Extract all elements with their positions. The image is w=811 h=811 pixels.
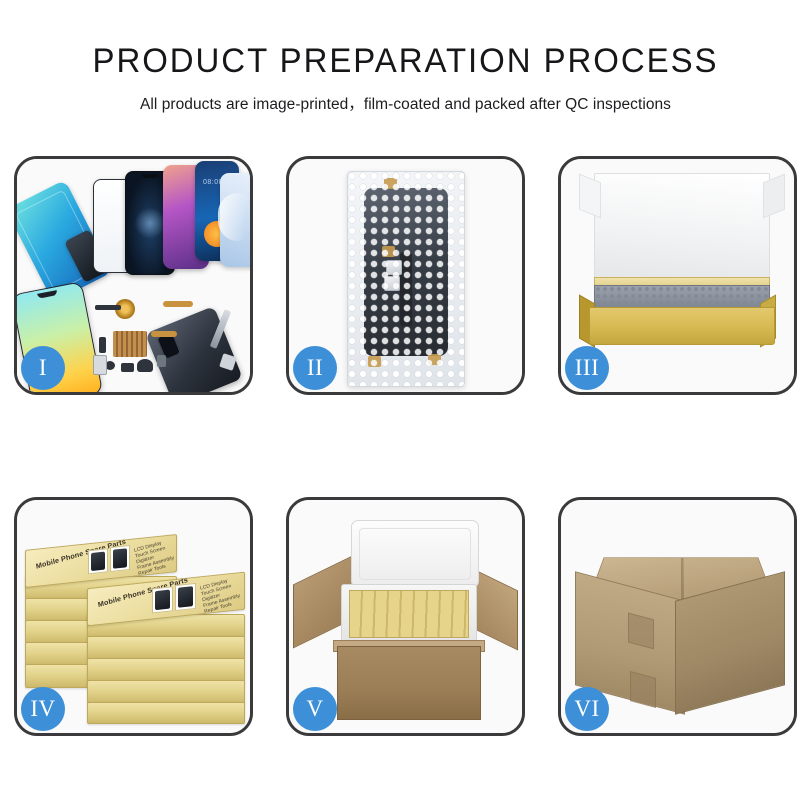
wrapped-screen-icon	[364, 188, 448, 356]
process-step-panel-1[interactable]: 08:08	[14, 156, 253, 395]
process-step-panel-2[interactable]: II	[286, 156, 525, 395]
step-badge-1: I	[21, 346, 65, 390]
foam-lid-icon	[351, 520, 479, 588]
process-step-panel-4[interactable]: Mobile Phone Spare Parts LCD Display Tou…	[14, 497, 253, 736]
step-badge-5: V	[293, 687, 337, 731]
process-step-grid: 08:08	[14, 156, 797, 736]
bubble-wrap-bag-icon	[347, 171, 465, 387]
box-lid-icon	[594, 173, 770, 289]
page-header: PRODUCT PREPARATION PROCESS All products…	[0, 0, 811, 114]
page-title: PRODUCT PREPARATION PROCESS	[12, 0, 799, 80]
step-badge-2: II	[293, 346, 337, 390]
white-phone-screen-icon	[220, 173, 250, 267]
connector-grid-part-icon	[113, 331, 147, 357]
packed-retail-boxes-icon	[349, 590, 469, 638]
step-badge-3: III	[565, 346, 609, 390]
process-step-panel-3[interactable]: III	[558, 156, 797, 395]
carton-front-panel-icon	[337, 646, 481, 720]
step-badge-4: IV	[21, 687, 65, 731]
process-step-panel-5[interactable]: V	[286, 497, 525, 736]
box-front-panel-icon	[589, 307, 775, 345]
page-subtitle: All products are image-printed，film-coat…	[0, 80, 811, 114]
process-step-panel-6[interactable]: VI	[558, 497, 797, 736]
step-badge-6: VI	[565, 687, 609, 731]
